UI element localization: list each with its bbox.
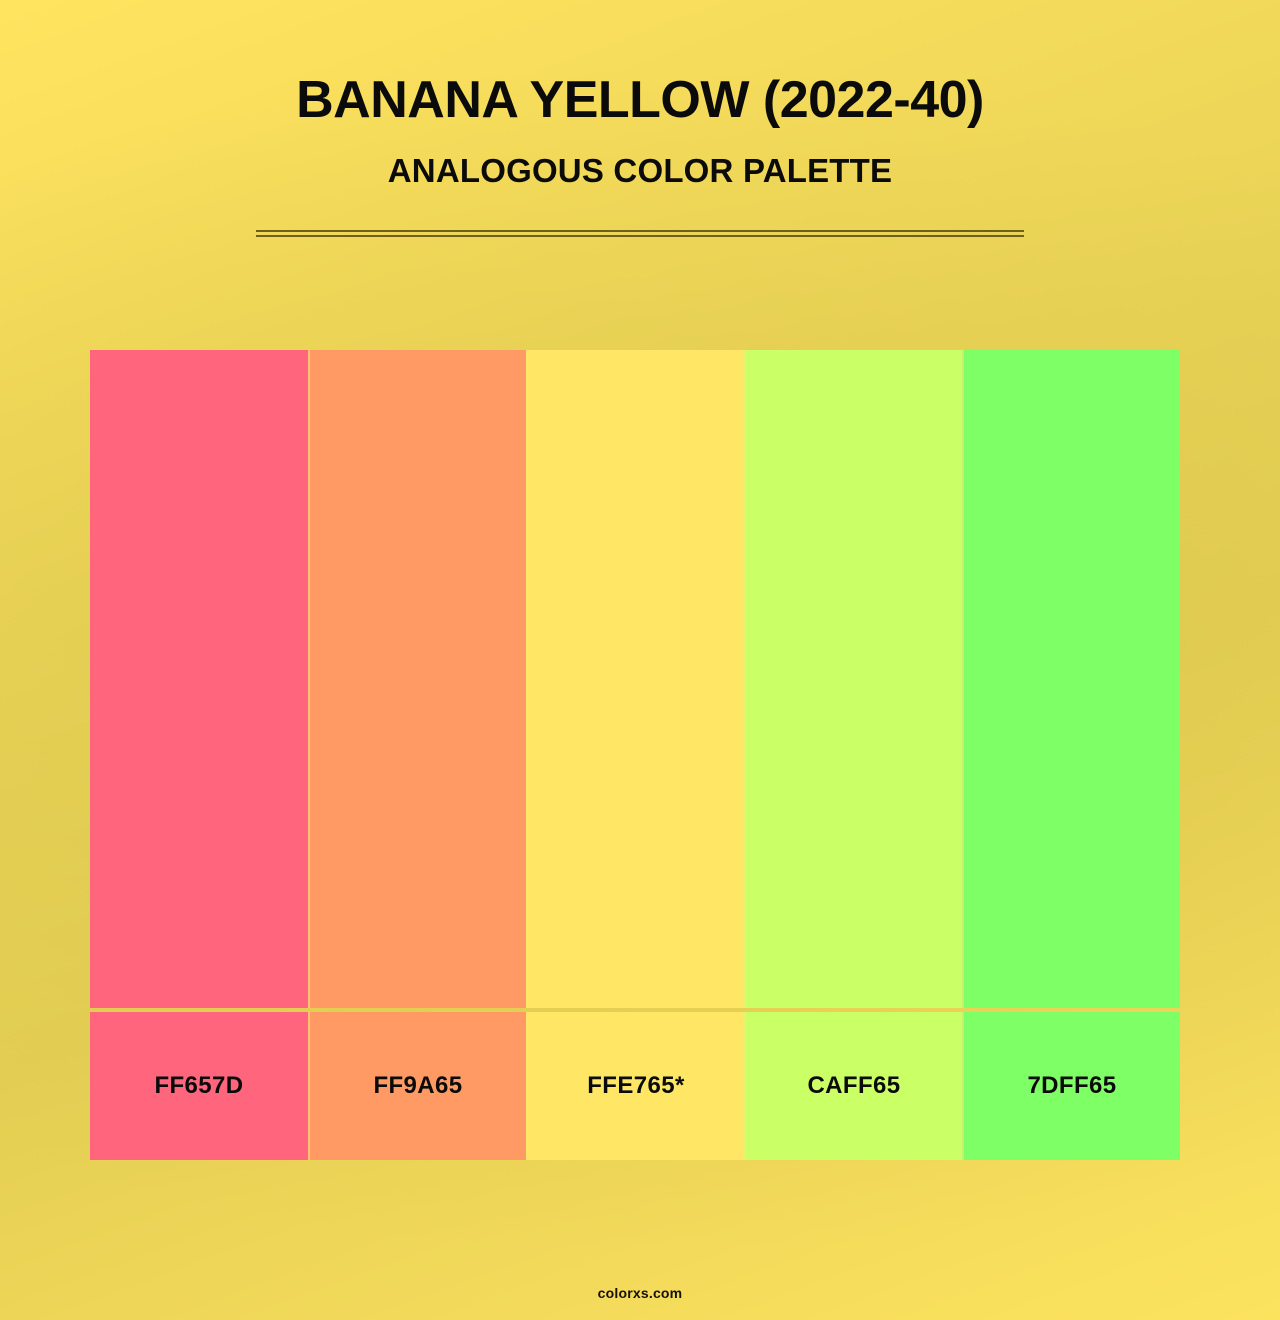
divider-line-bottom	[256, 235, 1024, 237]
footer-site-label: colorxs.com	[598, 1285, 683, 1301]
swatch-color-area	[744, 350, 962, 1008]
swatch-color-area	[308, 350, 526, 1008]
swatch-hex-label: FF9A65	[373, 1072, 462, 1100]
title-divider	[256, 230, 1024, 236]
header: BANANA YELLOW (2022-40) ANALOGOUS COLOR …	[0, 0, 1280, 187]
swatch-hex-label: FFE765*	[587, 1072, 685, 1100]
color-swatch[interactable]: FFE765*	[526, 350, 744, 1160]
page-background: BANANA YELLOW (2022-40) ANALOGOUS COLOR …	[0, 0, 1280, 1320]
color-swatch[interactable]: CAFF65	[744, 350, 962, 1160]
divider-line-top	[256, 230, 1024, 232]
swatch-label-strip[interactable]: FFE765*	[526, 1012, 744, 1160]
footer: colorxs.com	[0, 1285, 1280, 1303]
swatch-hex-label: FF657D	[154, 1072, 243, 1100]
swatch-color-area	[526, 350, 744, 1008]
color-palette: FF657D FF9A65 FFE765* CAFF65	[90, 350, 1180, 1160]
swatch-label-strip[interactable]: FF9A65	[308, 1012, 526, 1160]
swatch-hex-label: 7DFF65	[1027, 1072, 1116, 1100]
swatch-hex-label: CAFF65	[807, 1072, 900, 1100]
page-title: BANANA YELLOW (2022-40)	[0, 0, 1280, 126]
color-swatch[interactable]: FF9A65	[308, 350, 526, 1160]
swatch-label-strip[interactable]: FF657D	[90, 1012, 308, 1160]
swatch-color-area	[962, 350, 1180, 1008]
color-swatch[interactable]: 7DFF65	[962, 350, 1180, 1160]
swatch-label-strip[interactable]: 7DFF65	[962, 1012, 1180, 1160]
page-subtitle: ANALOGOUS COLOR PALETTE	[0, 126, 1280, 187]
swatch-color-area	[90, 350, 308, 1008]
color-swatch[interactable]: FF657D	[90, 350, 308, 1160]
swatch-label-strip[interactable]: CAFF65	[744, 1012, 962, 1160]
